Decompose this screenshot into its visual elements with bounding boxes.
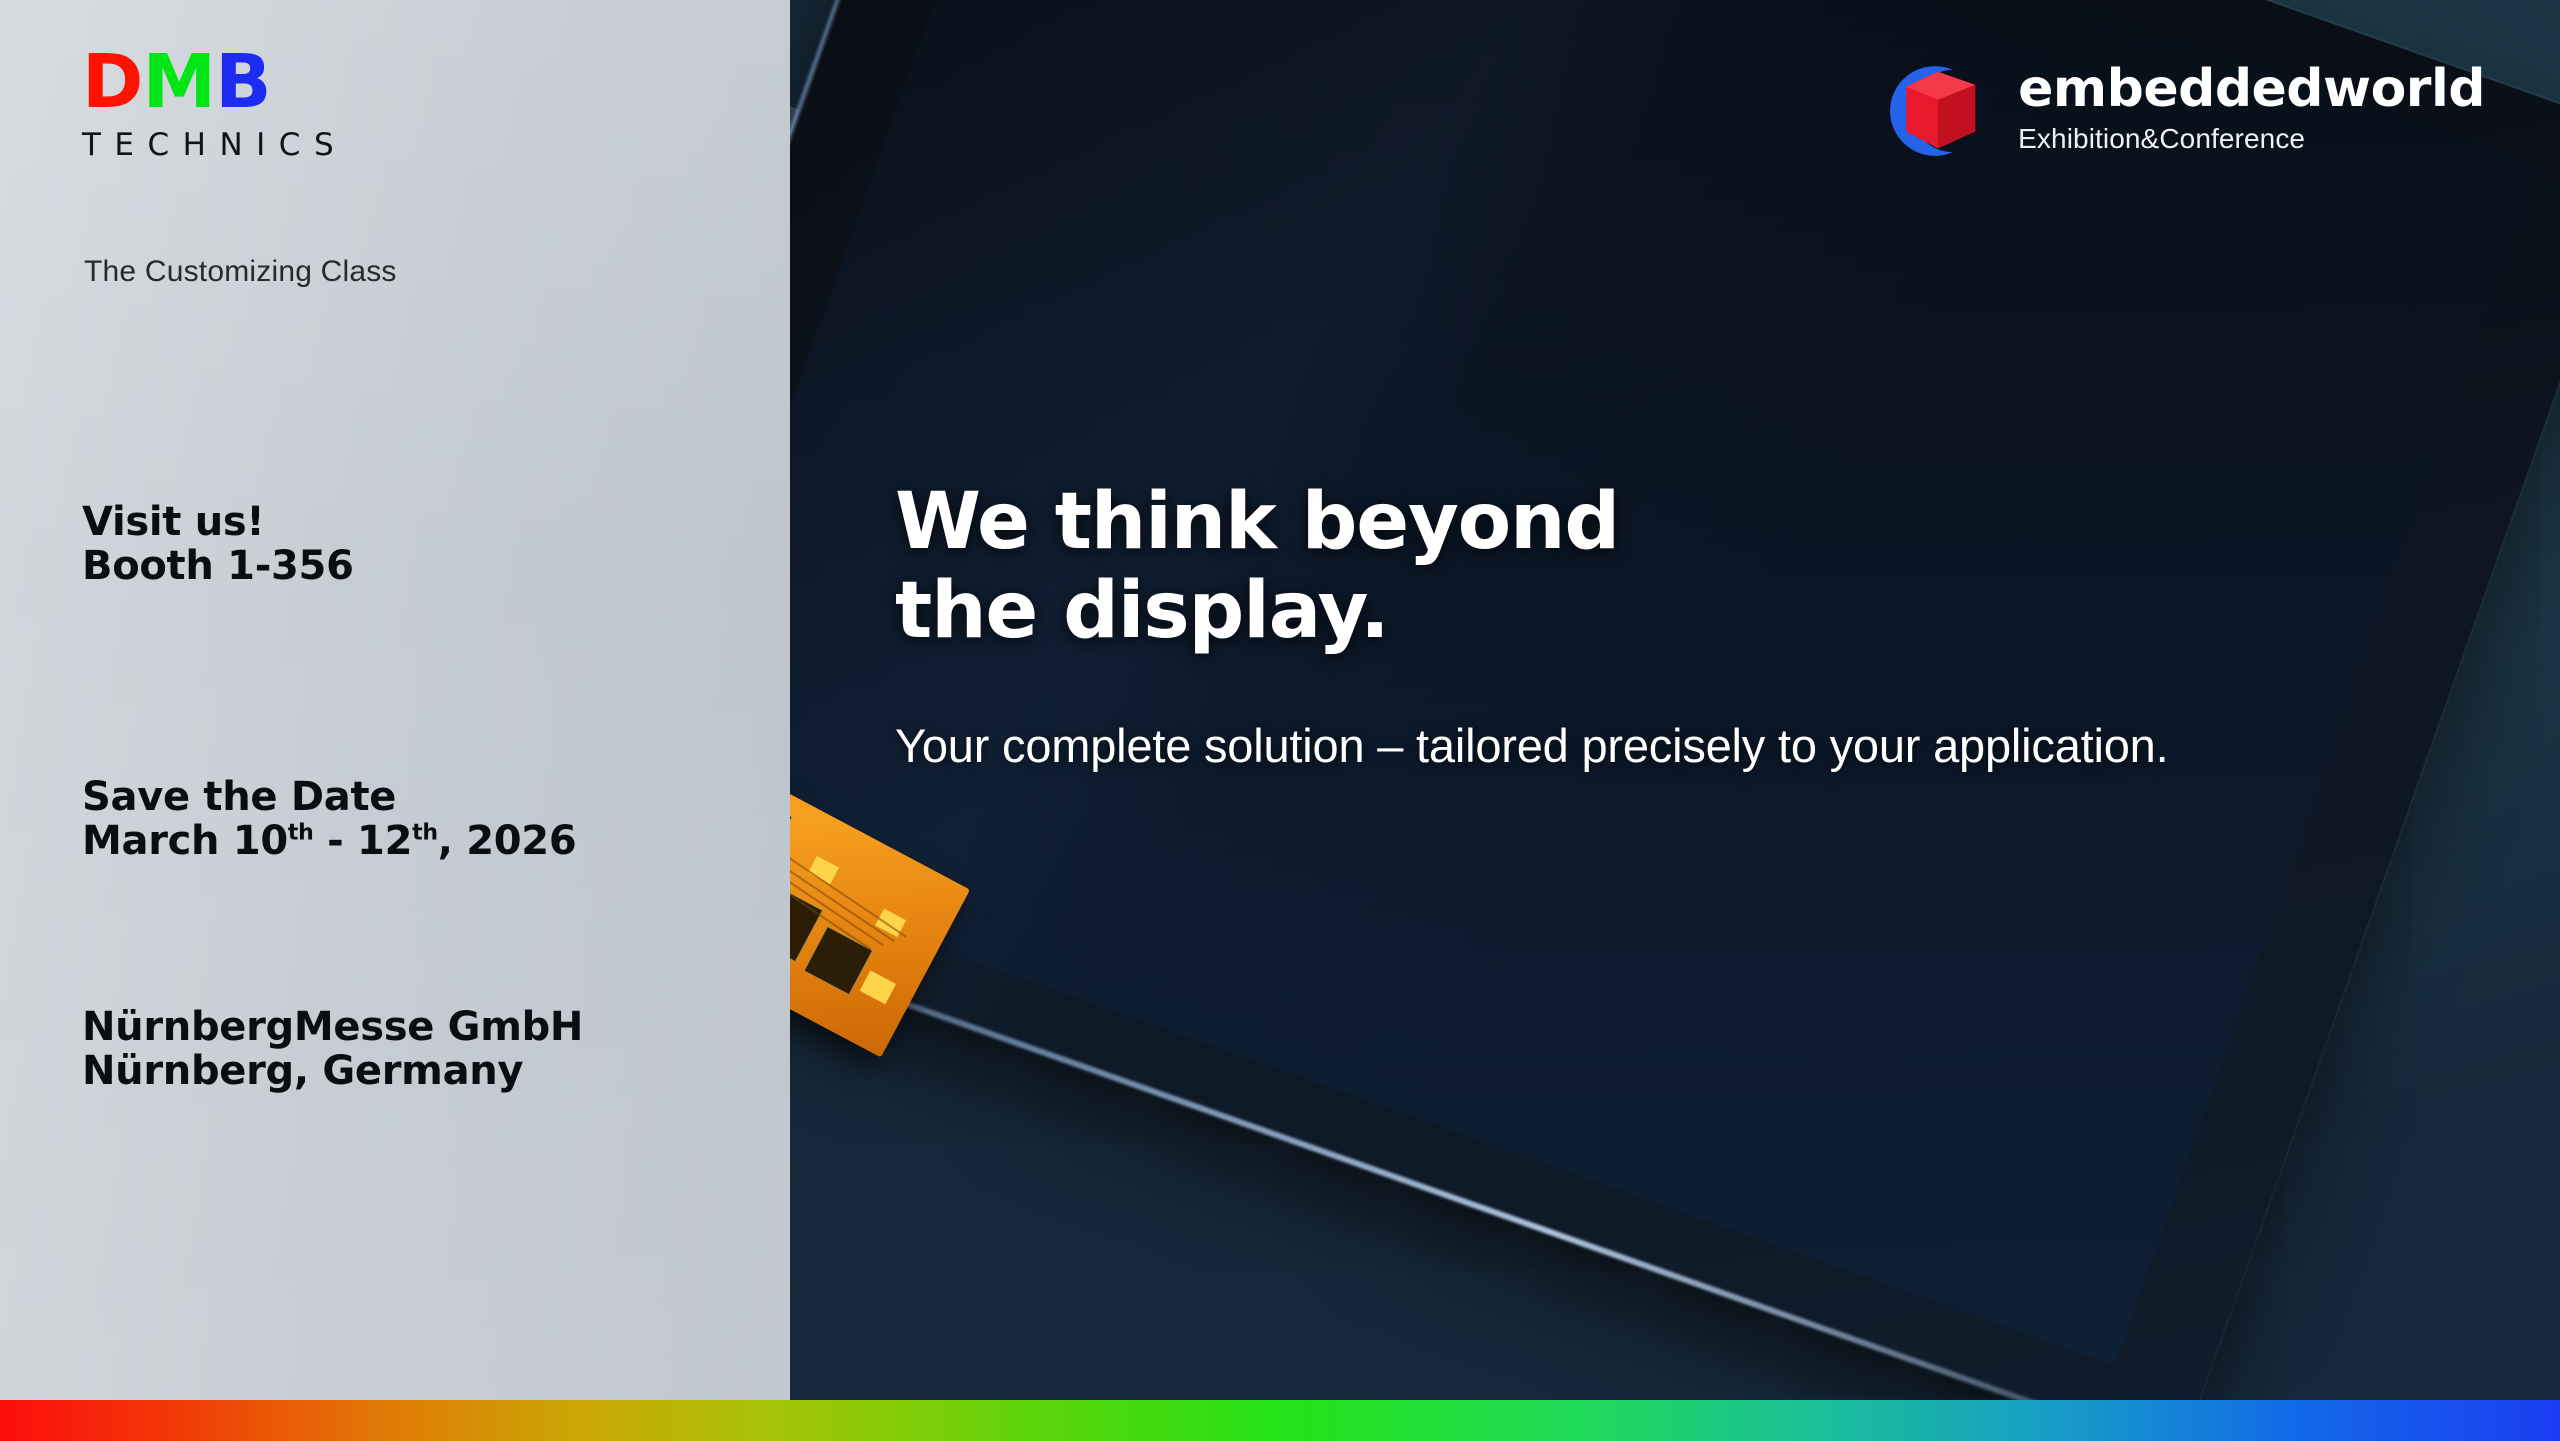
dmb-logo-letter-m: M — [142, 45, 215, 119]
left-content-panel — [0, 0, 790, 1400]
headline: We think beyond the display. — [895, 478, 1619, 656]
dmb-logo-wordmark: D M B — [82, 45, 347, 119]
brand-tagline: The Customizing Class — [84, 255, 397, 289]
rainbow-accent-bar — [0, 1400, 2560, 1441]
embedded-world-name: embeddedworld — [2018, 63, 2485, 116]
embedded-world-cube-icon — [1880, 55, 1992, 167]
date-sup-1: th — [288, 821, 314, 846]
dmb-logo-letter-d: D — [82, 45, 142, 119]
info-block-venue: NürnbergMesse GmbH Nürnberg, Germany — [82, 1005, 583, 1093]
date-middle: - 12 — [314, 818, 413, 864]
date-prefix: March 10 — [82, 818, 288, 864]
info-block-date: Save the Date March 10th - 12th, 2026 — [82, 775, 576, 863]
visit-line-1: Visit us! — [82, 500, 354, 544]
venue-line-2: Nürnberg, Germany — [82, 1049, 583, 1093]
headline-line-1: We think beyond — [895, 478, 1619, 567]
embedded-world-logo: embeddedworld Exhibition&Conference — [1880, 55, 2485, 167]
date-sup-2: th — [412, 821, 438, 846]
date-line-1: Save the Date — [82, 775, 576, 819]
headline-line-2: the display. — [895, 567, 1619, 656]
embedded-world-text: embeddedworld Exhibition&Conference — [2018, 63, 2485, 158]
panel-gradient-veil — [0, 0, 790, 1400]
dmb-logo: D M B TECHNICS — [82, 45, 347, 163]
promo-banner: D M B TECHNICS The Customizing Class Vis… — [0, 0, 2560, 1441]
subheadline: Your complete solution – tailored precis… — [895, 718, 2168, 773]
dmb-logo-subtitle: TECHNICS — [82, 127, 347, 163]
venue-line-1: NürnbergMesse GmbH — [82, 1005, 583, 1049]
info-block-visit: Visit us! Booth 1-356 — [82, 500, 354, 588]
date-line-2: March 10th - 12th, 2026 — [82, 819, 576, 863]
dmb-logo-letter-b: B — [215, 45, 270, 119]
date-suffix: , 2026 — [438, 818, 577, 864]
visit-line-2: Booth 1-356 — [82, 544, 354, 588]
embedded-world-subtitle: Exhibition&Conference — [2018, 123, 2485, 155]
